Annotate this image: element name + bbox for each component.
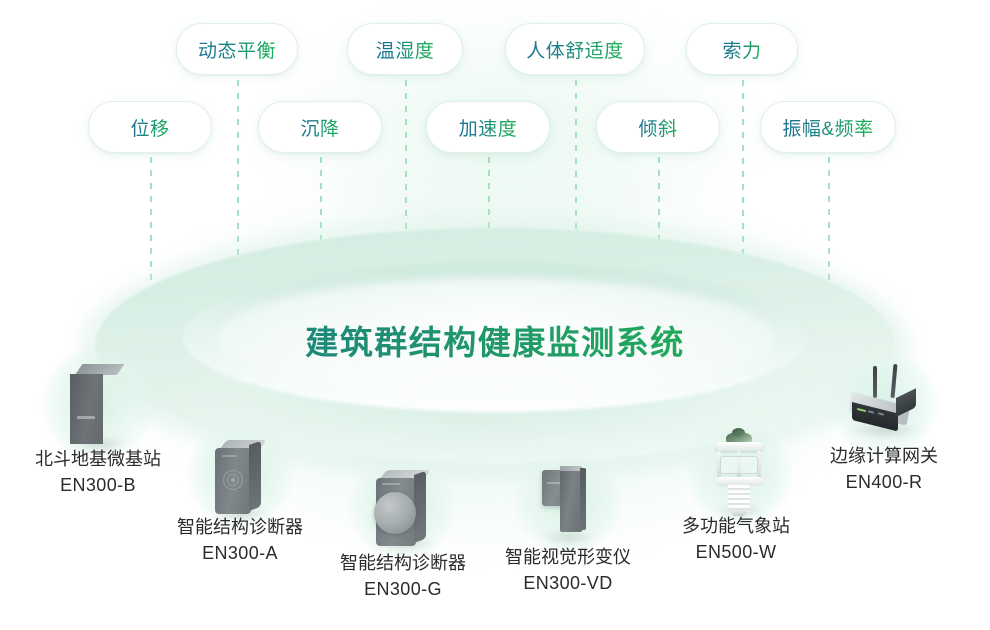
device-name: 边缘计算网关: [790, 443, 978, 469]
pill-wenshidu[interactable]: 温湿度: [347, 23, 463, 75]
pill-label: 人体舒适度: [526, 36, 624, 63]
device-structure-diagnoser-a[interactable]: [188, 424, 292, 528]
base-station-icon: [42, 348, 154, 460]
device-base-station[interactable]: [42, 348, 154, 460]
pill-weiyi[interactable]: 位移: [88, 101, 212, 153]
device-label-weather-station: 多功能气象站 EN500-W: [638, 513, 834, 565]
device-name: 智能结构诊断器: [138, 514, 342, 540]
pill-rentishushidu[interactable]: 人体舒适度: [505, 23, 645, 75]
device-label-edge-gateway: 边缘计算网关 EN400-R: [790, 443, 978, 495]
device-name: 北斗地基微基站: [0, 446, 196, 472]
device-model: EN300-VD: [464, 570, 672, 596]
diagram-canvas: 建筑群结构健康监测系统 动态平衡 温湿度 人体舒适度 索力 位移 沉降 加速度 …: [0, 0, 990, 630]
device-visual-deformation[interactable]: [516, 450, 620, 554]
pill-label: 动态平衡: [198, 36, 276, 63]
pill-label: 振幅&频率: [782, 114, 873, 141]
device-model: EN400-R: [790, 469, 978, 495]
device-model: EN300-B: [0, 472, 196, 498]
visual-deformation-icon: [516, 450, 620, 554]
structure-diagnoser-g-icon: [350, 456, 454, 560]
pill-label: 加速度: [459, 114, 518, 141]
device-structure-diagnoser-g[interactable]: [350, 456, 454, 560]
pill-label: 沉降: [300, 114, 339, 141]
pill-qingxie[interactable]: 倾斜: [596, 101, 720, 153]
pill-chenjiang[interactable]: 沉降: [258, 101, 382, 153]
pill-dongtaipingheng[interactable]: 动态平衡: [176, 23, 298, 75]
pill-jiasudu[interactable]: 加速度: [426, 101, 550, 153]
connector-line-wenshidu: [405, 80, 407, 240]
pill-zhenfupinlv[interactable]: 振幅&频率: [760, 101, 896, 153]
edge-gateway-icon: [830, 352, 938, 456]
dash-stroke: [405, 80, 407, 240]
device-model: EN500-W: [638, 539, 834, 565]
device-label-base-station: 北斗地基微基站 EN300-B: [0, 446, 196, 498]
device-name: 多功能气象站: [638, 513, 834, 539]
pill-label: 倾斜: [638, 114, 677, 141]
structure-diagnoser-a-icon: [188, 424, 292, 528]
pill-suoli[interactable]: 索力: [686, 23, 798, 75]
weather-station-icon: [688, 422, 792, 526]
device-edge-gateway[interactable]: [830, 352, 938, 456]
pill-label: 温湿度: [376, 36, 435, 63]
device-weather-station[interactable]: [688, 422, 792, 526]
pill-label: 索力: [722, 36, 761, 63]
pill-label: 位移: [130, 114, 169, 141]
